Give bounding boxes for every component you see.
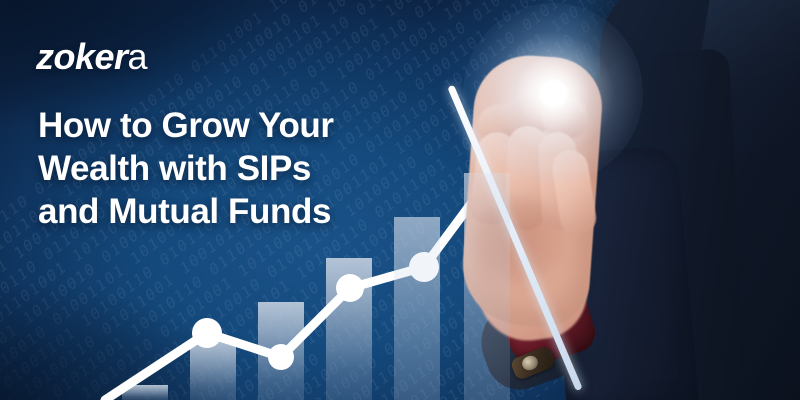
bar-glass-6 bbox=[464, 173, 510, 400]
banner-canvas: 01001101 10100110 01011001 10010110 0110… bbox=[0, 0, 800, 400]
headline-line-2: Wealth with SIPs bbox=[38, 147, 458, 190]
brand-logo[interactable]: zokera bbox=[36, 36, 147, 78]
brand-logo-light: a bbox=[128, 36, 148, 77]
bar-glass-5 bbox=[394, 217, 440, 400]
headline: How to Grow Your Wealth with SIPs and Mu… bbox=[38, 104, 458, 233]
brand-logo-bold: zoker bbox=[36, 36, 128, 77]
headline-line-1: How to Grow Your bbox=[38, 104, 458, 147]
headline-line-3: and Mutual Funds bbox=[38, 190, 458, 233]
